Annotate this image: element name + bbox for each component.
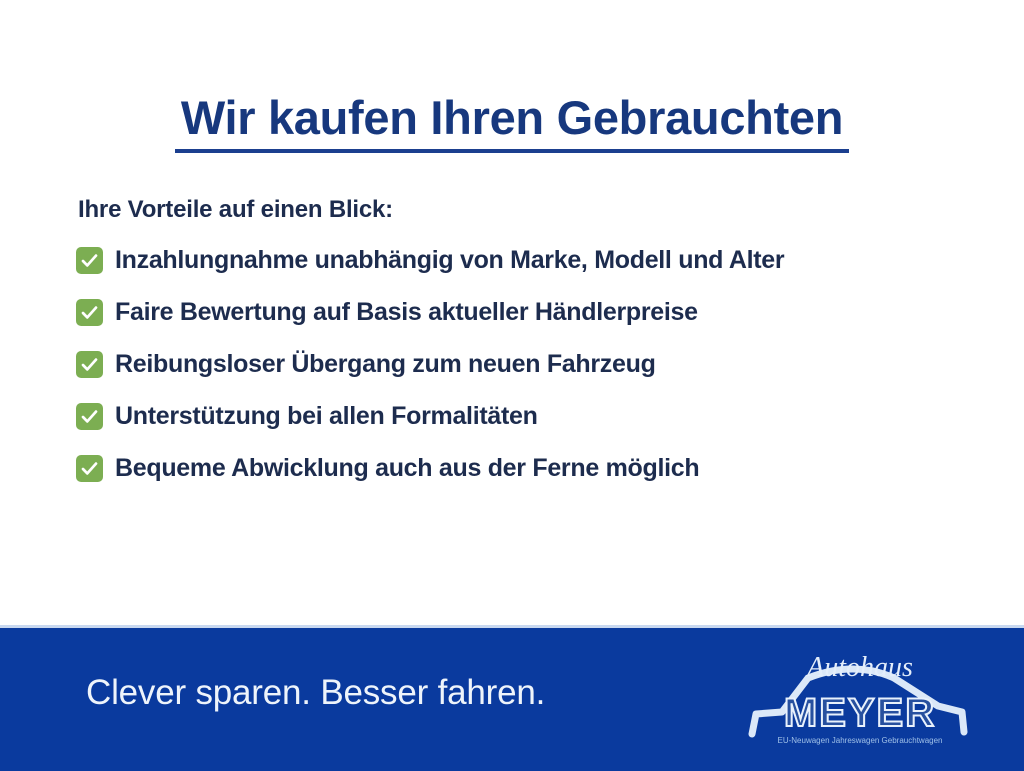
logo-block-name: MEYER xyxy=(784,691,936,735)
page-title: Wir kaufen Ihren Gebrauchten xyxy=(175,93,849,152)
logo-script-name: Autohaus xyxy=(805,652,913,683)
benefit-label: Unterstützung bei allen Formalitäten xyxy=(115,404,538,429)
list-item: Inzahlungnahme unabhängig von Marke, Mod… xyxy=(76,246,976,274)
green-check-icon xyxy=(76,351,103,378)
benefits-list: Inzahlungnahme unabhängig von Marke, Mod… xyxy=(76,246,976,482)
benefits-section: Ihre Vorteile auf einen Blick: Inzahlung… xyxy=(76,196,976,506)
benefits-heading: Ihre Vorteile auf einen Blick: xyxy=(78,196,976,224)
footer-bar: Clever sparen. Besser fahren. Autohaus M… xyxy=(0,625,1024,771)
list-item: Faire Bewertung auf Basis aktueller Händ… xyxy=(76,298,976,326)
list-item: Reibungsloser Übergang zum neuen Fahrzeu… xyxy=(76,350,976,378)
green-check-icon xyxy=(76,403,103,430)
benefit-label: Faire Bewertung auf Basis aktueller Händ… xyxy=(115,300,698,325)
green-check-icon xyxy=(76,299,103,326)
list-item: Unterstützung bei allen Formalitäten xyxy=(76,402,976,430)
green-check-icon xyxy=(76,247,103,274)
list-item: Bequeme Abwicklung auch aus der Ferne mö… xyxy=(76,454,976,482)
benefit-label: Reibungsloser Übergang zum neuen Fahrzeu… xyxy=(115,352,656,377)
green-check-icon xyxy=(76,455,103,482)
dealer-logo: Autohaus MEYER EU-Neuwagen Jahreswagen G… xyxy=(742,642,972,752)
footer-tagline: Clever sparen. Besser fahren. xyxy=(86,673,545,713)
benefit-label: Bequeme Abwicklung auch aus der Ferne mö… xyxy=(115,456,699,481)
logo-subtext: EU-Neuwagen Jahreswagen Gebrauchtwagen xyxy=(778,736,943,745)
promo-slide: Wir kaufen Ihren Gebrauchten Ihre Vortei… xyxy=(0,0,1024,768)
benefit-label: Inzahlungnahme unabhängig von Marke, Mod… xyxy=(115,248,784,273)
page-title-container: Wir kaufen Ihren Gebrauchten xyxy=(0,62,1024,184)
